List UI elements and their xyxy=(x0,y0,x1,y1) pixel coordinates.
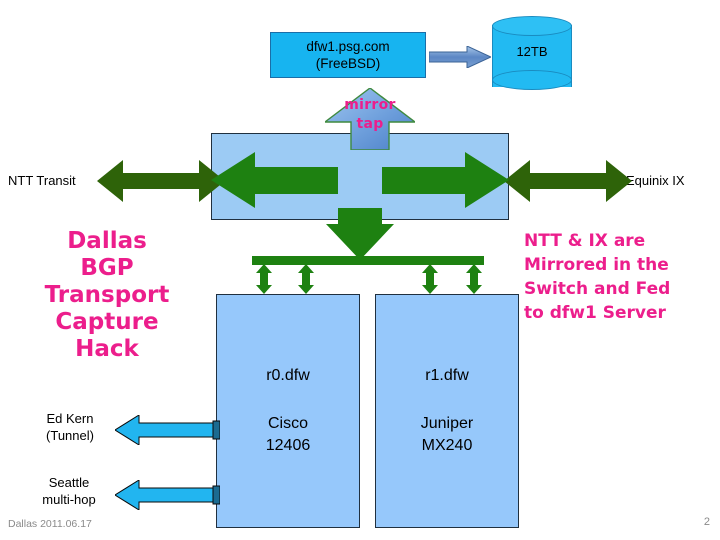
ntt-transit-label: NTT Transit xyxy=(8,173,76,188)
server-box-dfw1[interactable]: dfw1.psg.com (FreeBSD) xyxy=(270,32,426,78)
mirror-tap-line2: tap xyxy=(325,115,415,134)
ntt-transit-arrow-icon xyxy=(97,158,225,204)
ed-kern-tunnel-arrow-icon xyxy=(115,415,220,445)
router1-model: MX240 xyxy=(422,435,473,457)
tunnel-label-line1: Ed Kern xyxy=(30,410,110,427)
note-line-1: NTT & IX are xyxy=(524,229,720,253)
router0-vendor: Cisco xyxy=(268,413,308,435)
server-hostname: dfw1.psg.com xyxy=(306,38,389,55)
router-box-r0-dfw[interactable]: r0.dfw Cisco 12406 xyxy=(216,294,360,528)
ed-kern-tunnel-label: Ed Kern (Tunnel) xyxy=(30,410,110,444)
server-os: (FreeBSD) xyxy=(316,55,381,72)
mirroring-note-block: NTT & IX are Mirrored in the Switch and … xyxy=(524,229,720,325)
equinix-ix-label: Equinix IX xyxy=(626,173,685,188)
note-line-4: to dfw1 Server xyxy=(524,301,720,325)
router1-hostname: r1.dfw xyxy=(425,365,469,387)
seattle-multihop-label: Seattle multi-hop xyxy=(28,474,110,508)
mirrored-traffic-t-arrow-icon xyxy=(211,152,509,260)
router-link-arrows xyxy=(246,264,496,294)
seattle-label-line2: multi-hop xyxy=(28,491,110,508)
router0-hostname: r0.dfw xyxy=(266,365,310,387)
footer-date: Dallas 2011.06.17 xyxy=(8,518,92,530)
cylinder-top-ellipse xyxy=(492,16,572,36)
note-line-2: Mirrored in the xyxy=(524,253,720,277)
page-number: 2 xyxy=(704,516,710,528)
mirror-tap-label: mirror tap xyxy=(325,96,415,134)
tunnel-label-line2: (Tunnel) xyxy=(30,427,110,444)
equinix-ix-arrow-icon xyxy=(504,158,632,204)
mirror-tap-line1: mirror xyxy=(325,96,415,115)
slide-title-block: Dallas BGP Transport Capture Hack xyxy=(16,228,198,363)
cylinder-bottom-ellipse xyxy=(492,70,572,90)
title-line-3: Transport xyxy=(16,282,198,309)
storage-cylinder-12tb[interactable]: 12TB xyxy=(492,16,572,96)
mirror-tap-arrow[interactable]: mirror tap xyxy=(325,88,415,150)
note-line-3: Switch and Fed xyxy=(524,277,720,301)
slide-canvas: dfw1.psg.com (FreeBSD) 12TB xyxy=(0,0,720,540)
server-to-storage-arrow-icon xyxy=(429,46,491,68)
title-line-2: BGP xyxy=(16,255,198,282)
router0-model: 12406 xyxy=(266,435,311,457)
title-line-4: Capture xyxy=(16,309,198,336)
title-line-5: Hack xyxy=(16,336,198,363)
title-line-1: Dallas xyxy=(16,228,198,255)
seattle-label-line1: Seattle xyxy=(28,474,110,491)
seattle-multihop-arrow-icon xyxy=(115,480,220,510)
storage-capacity-label: 12TB xyxy=(492,44,572,59)
router-box-r1-dfw[interactable]: r1.dfw Juniper MX240 xyxy=(375,294,519,528)
router1-vendor: Juniper xyxy=(421,413,473,435)
